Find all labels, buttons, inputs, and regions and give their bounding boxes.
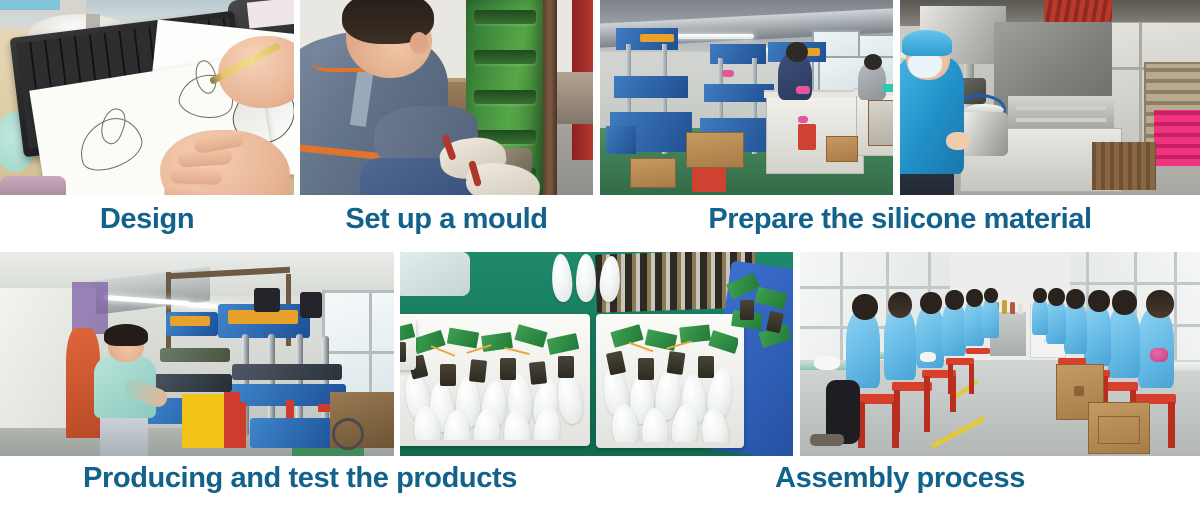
caption-prepare-the-silicone-material: Prepare the silicone material — [600, 203, 1200, 236]
caption-design: Design — [0, 203, 294, 236]
caption-producing-and-test-the-products: Producing and test the products — [0, 462, 600, 495]
caption-assembly-process: Assembly process — [600, 462, 1200, 495]
photo-producing[interactable] — [0, 252, 394, 456]
photo-workshop[interactable] — [600, 0, 893, 195]
photo-products[interactable] — [400, 252, 793, 456]
caption-set-up-a-mould: Set up a mould — [300, 203, 593, 236]
photo-design[interactable] — [0, 0, 294, 195]
photo-material[interactable] — [900, 0, 1200, 195]
photo-assembly[interactable] — [800, 252, 1200, 456]
photo-mould[interactable] — [300, 0, 593, 195]
process-gallery: Design Set up a mould Prepare the silico… — [0, 0, 1200, 524]
